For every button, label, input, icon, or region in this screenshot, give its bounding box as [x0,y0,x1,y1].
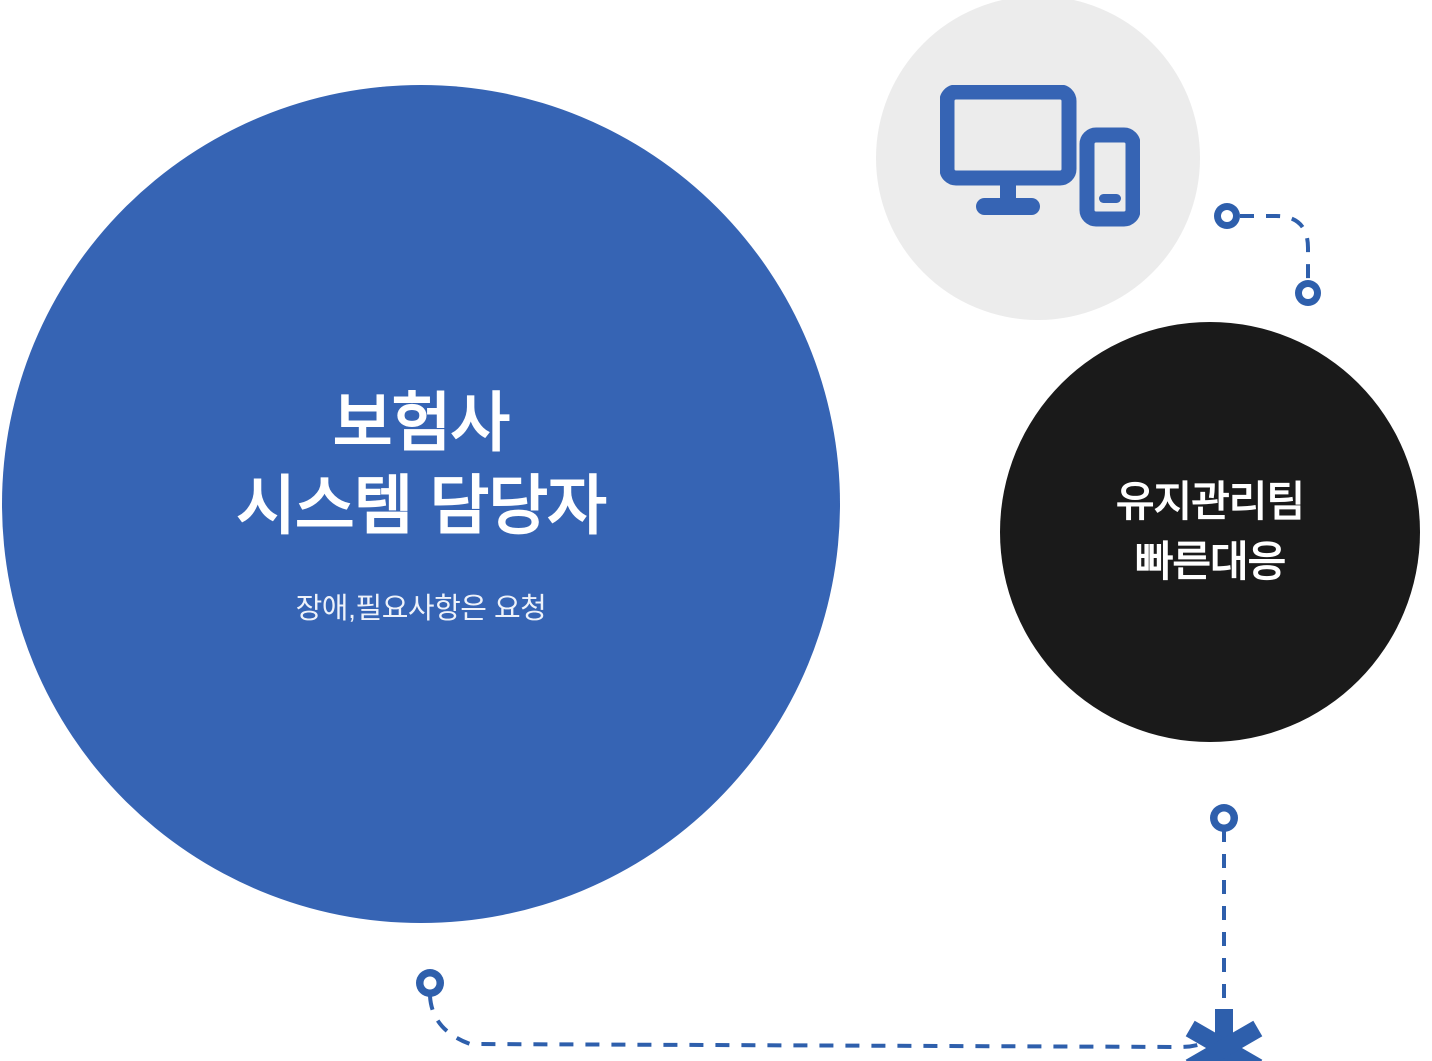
device-to-support-path [1240,216,1308,292]
support-node-title: 유지관리팀 빠른대응 [1116,472,1304,591]
primary-node-subtitle: 장애,필요사항은 요청 [296,585,547,627]
ring-dot-device-end [1214,203,1240,229]
ring-dot-support-start [1295,280,1321,306]
ring-dot-primary-bottom [416,969,444,997]
primary-bottom-path [430,996,1222,1047]
device-node-circle[interactable] [876,0,1200,320]
primary-node-circle[interactable]: 보험사 시스템 담당자 장애,필요사항은 요청 [2,85,840,923]
support-node-circle[interactable]: 유지관리팀 빠른대응 [1000,322,1420,742]
diagram-canvas: 보험사 시스템 담당자 장애,필요사항은 요청 유지관리팀 빠른대응 [0,0,1432,1061]
asterisk-marker [1190,1009,1258,1061]
primary-node-title: 보험사 시스템 담당자 [216,381,626,547]
monitor-and-smartphone-icon [936,83,1140,233]
ring-dot-support-bottom [1210,804,1238,832]
